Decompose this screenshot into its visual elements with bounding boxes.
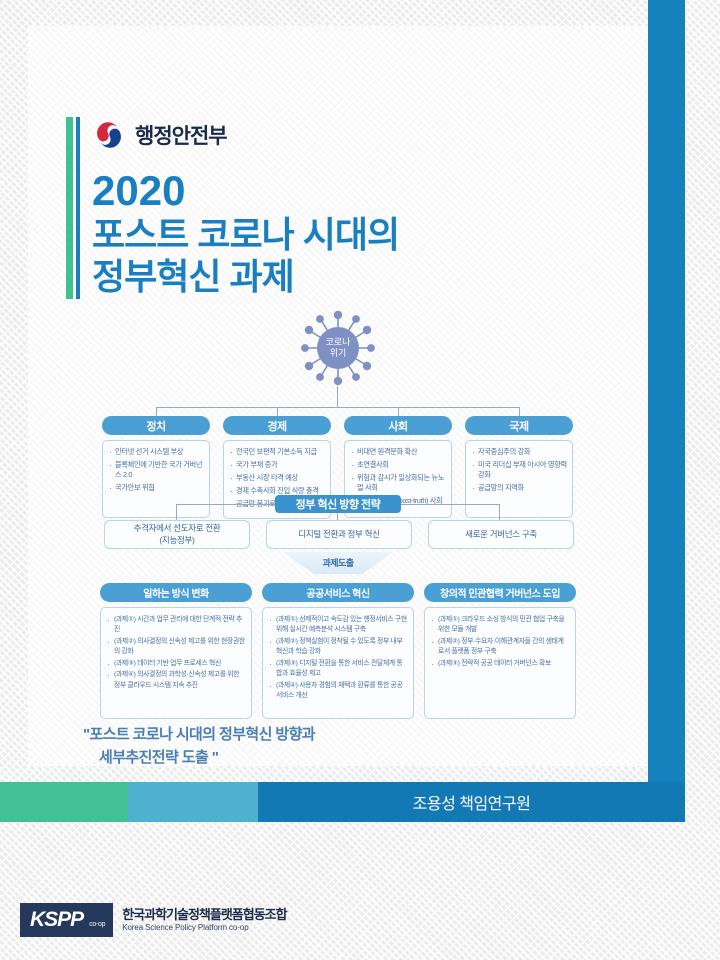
- footer-band-light-blue: [128, 782, 258, 822]
- list-item: (과제③) 디지털 전환을 통한 서비스 전달체계 통합과 효율성 제고: [269, 659, 407, 679]
- task-list: (과제①) 선제적이고 속도감 있는 행정서비스 구현 위해 실시간 예측분석 …: [269, 615, 407, 701]
- corona-virus-icon: 코로나 위기: [300, 310, 376, 386]
- list-item: 부동산 시장 타격 예상: [229, 473, 325, 483]
- diagram: 코로나 위기 정치 인터넷 선거 시스템 부상 블록체인에 기반한 국가 거버넌…: [28, 300, 648, 720]
- list-item: (과제④) 사용자 경험의 채택과 환류를 통한 공공서비스 개선: [269, 681, 407, 701]
- list-item: 블록체인에 기반한 국가 거버넌스 2.0: [108, 460, 204, 481]
- taegeuk-icon: [92, 118, 126, 152]
- page-title-line2: 정부혁신 과제: [92, 258, 294, 297]
- task-group-header: 일하는 방식 변화: [100, 583, 252, 602]
- year-label: 2020: [92, 170, 185, 212]
- list-item: (과제③) 데이터 기반 업무 프로세스 혁신: [107, 659, 245, 669]
- strategy-label: 추격자에서 선도자로 전환(지능정부): [134, 523, 221, 545]
- strategy-label: 새로운 거버넌스 구축: [465, 529, 537, 540]
- presenter-name: 조용성 책임연구원: [413, 790, 531, 814]
- list-item: 국가안보 위협: [108, 483, 204, 493]
- connector-strategy-right: [499, 504, 500, 520]
- list-item: (과제①) 크라우드 소싱 방식의 민관 협업 구축을 위한 모듈 개발: [431, 615, 569, 635]
- strategy-header: 정부 혁신 방향 전략: [275, 495, 401, 513]
- kspp-logo-mark: KSPP co-op: [20, 903, 113, 937]
- org-name-english: Korea Science Policy Platform co-op: [122, 923, 286, 933]
- strategy-label: 디지털 전환과 정부 혁신: [298, 529, 379, 540]
- task-group-body: (과제①) 크라우드 소싱 방식의 민관 협업 구축을 위한 모듈 개발 (과제…: [424, 607, 576, 719]
- list-item: 인터넷 선거 시스템 부상: [108, 447, 204, 457]
- right-accent-bar: [648, 0, 685, 812]
- list-item: 위험과 감시가 일상화되는 뉴노멀 사회: [350, 473, 446, 494]
- ministry-logo: 행정안전부: [92, 118, 227, 152]
- list-item: (과제①) 선제적이고 속도감 있는 행정서비스 구현 위해 실시간 예측분석 …: [269, 615, 407, 635]
- category-column-international: 국제 자국중심주의 강화 미국 리더십 부재 아시아 영향력 강화 공급망의 지…: [465, 416, 573, 518]
- task-group-body: (과제①) 시간과 업무 관리에 대한 단계적 전략 추진 (과제②) 의사결정…: [100, 607, 252, 719]
- list-item: 공급망의 지역화: [471, 483, 567, 493]
- quote-line2: 세부추진전략 도출 ": [99, 746, 513, 769]
- task-group-body: (과제①) 선제적이고 속도감 있는 행정서비스 구현 위해 실시간 예측분석 …: [262, 607, 414, 719]
- kspp-logo: KSPP co-op 한국과학기술정책플랫폼협동조합 Korea Science…: [20, 903, 287, 937]
- category-list: 자국중심주의 강화 미국 리더십 부재 아시아 영향력 강화 공급망의 지역화: [471, 447, 567, 494]
- connector-drop-3: [398, 407, 399, 416]
- category-body: 자국중심주의 강화 미국 리더십 부재 아시아 영향력 강화 공급망의 지역화: [465, 440, 573, 518]
- org-name-korean: 한국과학기술정책플랫폼협동조합: [122, 908, 286, 923]
- task-column-governance: 창의적 민관협력 거버넌스 도입 (과제①) 크라우드 소싱 방식의 민관 협업…: [424, 583, 576, 719]
- connector-center-down: [337, 386, 338, 408]
- category-column-politics: 정치 인터넷 선거 시스템 부상 블록체인에 기반한 국가 거버넌스 2.0 국…: [102, 416, 210, 518]
- list-item: (과제②) 의사결정의 신속성 제고를 위한 현장권한의 강화: [107, 637, 245, 657]
- coop-label: co-op: [89, 921, 105, 928]
- category-header: 국제: [465, 416, 573, 435]
- list-item: (과제②) 정책실험이 정착될 수 있도록 정부 내부 혁신과 학습 강화: [269, 637, 407, 657]
- list-item: 비대면 원격문화 확산: [350, 447, 446, 457]
- svg-text:코로나: 코로나: [326, 337, 351, 347]
- slide: 행정안전부 2020 포스트 코로나 시대의 정부혁신 과제: [0, 0, 720, 960]
- title-accent-green: [66, 117, 73, 299]
- svg-text:위기: 위기: [330, 348, 347, 358]
- connector-drop-2: [277, 407, 278, 416]
- quote-line1: "포스트 코로나 시대의 정부혁신 방향과: [83, 726, 315, 743]
- connector-strategy-left: [176, 504, 177, 520]
- task-column-work-style: 일하는 방식 변화 (과제①) 시간과 업무 관리에 대한 단계적 전략 추진 …: [100, 583, 252, 719]
- list-item: (과제④) 의사결정의 과학성·신속성 제고를 위한 정부 클라우드 시스템 지…: [107, 670, 245, 690]
- page-title-line1: 포스트 코로나 시대의: [92, 216, 399, 255]
- strategy-box-1: 추격자에서 선도자로 전환(지능정부): [104, 520, 250, 549]
- list-item: (과제①) 시간과 업무 관리에 대한 단계적 전략 추진: [107, 615, 245, 635]
- task-column-public-service: 공공서비스 혁신 (과제①) 선제적이고 속도감 있는 행정서비스 구현 위해 …: [262, 583, 414, 719]
- task-list: (과제①) 시간과 업무 관리에 대한 단계적 전략 추진 (과제②) 의사결정…: [107, 615, 245, 691]
- title-accent-blue: [76, 117, 80, 299]
- list-item: 자국중심주의 강화: [471, 447, 567, 457]
- footer-band-green: [0, 782, 128, 822]
- connector-drop-1: [156, 407, 157, 416]
- derive-label: 과제도출: [308, 556, 368, 569]
- category-list: 인터넷 선거 시스템 부상 블록체인에 기반한 국가 거버넌스 2.0 국가안보…: [108, 447, 204, 494]
- kspp-wordmark: KSPP: [30, 908, 83, 932]
- task-group-header: 창의적 민관협력 거버넌스 도입: [424, 583, 576, 602]
- category-header: 경제: [223, 416, 331, 435]
- list-item: (과제③) 전략적 공공 데이터 거버넌스 확보: [431, 659, 569, 669]
- connector-drop-4: [519, 407, 520, 416]
- task-list: (과제①) 크라우드 소싱 방식의 민관 협업 구축을 위한 모듈 개발 (과제…: [431, 615, 569, 669]
- quote-text: "포스트 코로나 시대의 정부혁신 방향과 세부추진전략 도출 ": [83, 723, 513, 770]
- category-header: 사회: [344, 416, 452, 435]
- strategy-box-2: 디지털 전환과 정부 혁신: [266, 520, 412, 549]
- category-body: 인터넷 선거 시스템 부상 블록체인에 기반한 국가 거버넌스 2.0 국가안보…: [102, 440, 210, 518]
- connector-strategy-mid: [337, 513, 338, 520]
- list-item: 초연결사회: [350, 460, 446, 470]
- list-item: 미국 리더십 부재 아시아 영향력 강화: [471, 460, 567, 481]
- footer-band-dark-blue: 조용성 책임연구원: [258, 782, 685, 822]
- strategy-box-3: 새로운 거버넌스 구축: [428, 520, 574, 549]
- category-header: 정치: [102, 416, 210, 435]
- ministry-name: 행정안전부: [135, 120, 227, 150]
- kspp-logo-text: 한국과학기술정책플랫폼협동조합 Korea Science Policy Pla…: [122, 908, 286, 933]
- connector-spine: [156, 407, 520, 408]
- list-item: 전국민 보편적 기본소득 지급: [229, 447, 325, 457]
- task-group-header: 공공서비스 혁신: [262, 583, 414, 602]
- list-item: 국가 부채 증가: [229, 460, 325, 470]
- list-item: (과제②) 정부·수요자·이해관계자들 간의 생태계로서 플랫폼 정부 구축: [431, 637, 569, 657]
